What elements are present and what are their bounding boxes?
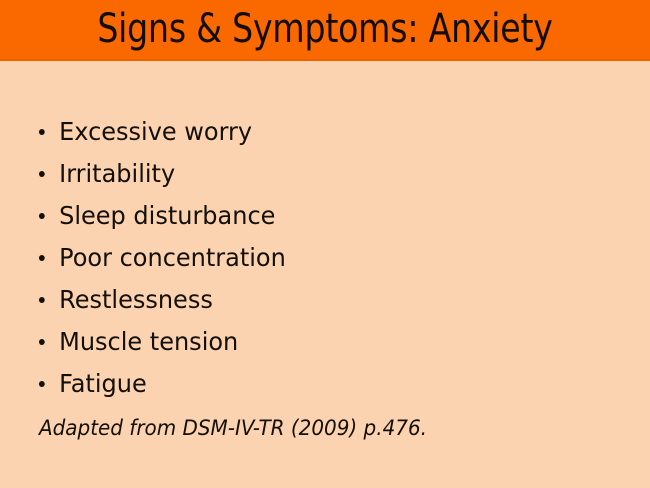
source-citation: Adapted from DSM-IV-TR (2009) p.476. xyxy=(39,416,427,440)
list-item: Irritability xyxy=(38,153,286,195)
list-item: Fatigue xyxy=(38,363,286,405)
slide-body: Excessive worry Irritability Sleep distu… xyxy=(0,61,650,488)
bullet-dot-icon xyxy=(39,213,45,219)
bullet-dot-icon xyxy=(39,381,45,387)
list-item-label: Poor concentration xyxy=(59,243,286,272)
list-item: Sleep disturbance xyxy=(38,195,286,237)
list-item-label: Excessive worry xyxy=(59,117,252,146)
list-item: Poor concentration xyxy=(38,237,286,279)
page-title: Signs & Symptoms: Anxiety xyxy=(26,0,624,61)
bullet-dot-icon xyxy=(39,171,45,177)
presentation-slide: Signs & Symptoms: Anxiety Excessive worr… xyxy=(0,0,650,488)
list-item: Muscle tension xyxy=(38,321,286,363)
list-item-label: Irritability xyxy=(59,159,175,188)
list-item: Excessive worry xyxy=(38,111,286,153)
bullet-dot-icon xyxy=(39,129,45,135)
list-item-label: Restlessness xyxy=(59,285,213,314)
symptom-list: Excessive worry Irritability Sleep distu… xyxy=(38,111,296,405)
list-item-label: Muscle tension xyxy=(59,327,238,356)
bullet-dot-icon xyxy=(39,255,45,261)
bullet-dot-icon xyxy=(39,297,45,303)
list-item-label: Fatigue xyxy=(59,369,147,398)
list-item: Restlessness xyxy=(38,279,286,321)
bullet-dot-icon xyxy=(39,339,45,345)
list-item-label: Sleep disturbance xyxy=(59,201,275,230)
title-band: Signs & Symptoms: Anxiety xyxy=(0,0,650,61)
